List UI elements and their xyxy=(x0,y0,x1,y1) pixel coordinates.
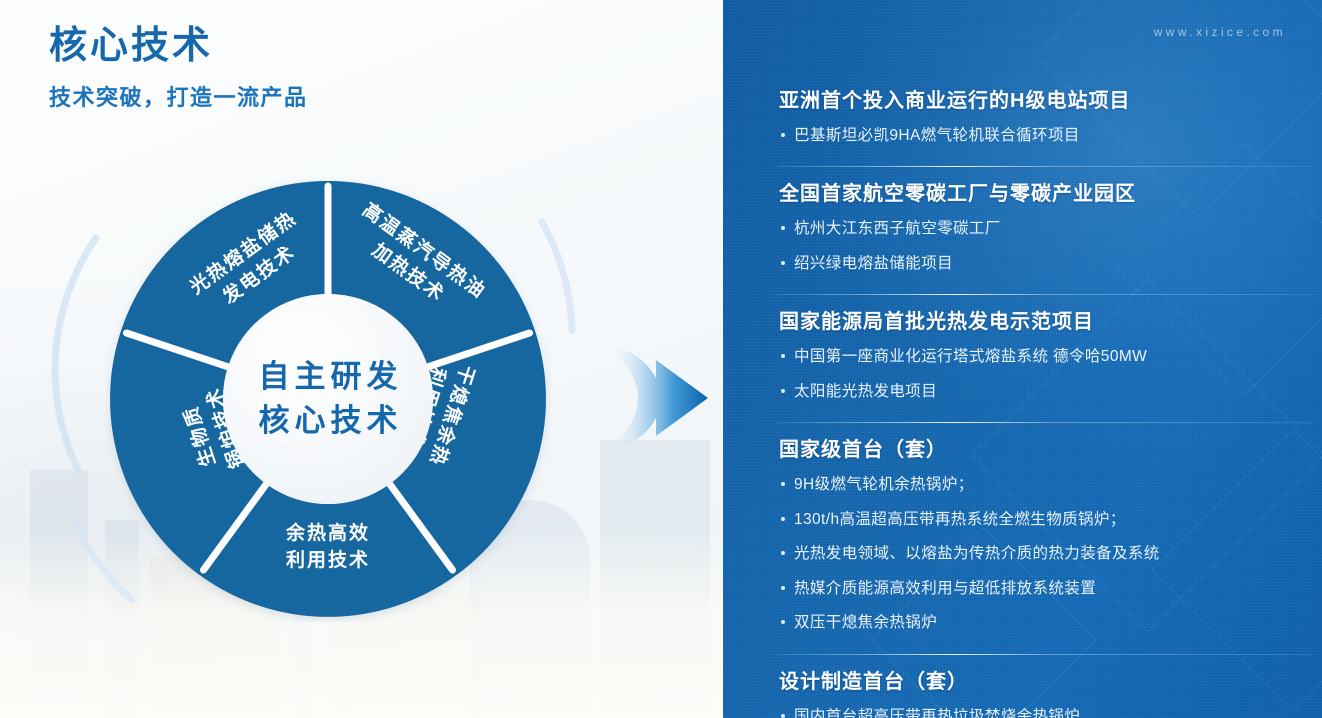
segment-label-line2: 利用技术 xyxy=(253,548,403,575)
section-divider xyxy=(777,422,1313,423)
section-item: 9H级燃气轮机余热锅炉； xyxy=(779,468,1299,502)
section-design-manufacture-first-set: 设计制造首台（套） 国内首台超高压带再热垃圾焚烧余热锅炉 xyxy=(779,669,1299,718)
page-subtitle: 技术突破，打造一流产品 xyxy=(49,80,308,112)
core-technology-donut: 光热熔盐储热 发电技术 高温蒸汽导热油 加热技术 干熄焦余热 利用技术 余热高效… xyxy=(105,176,551,622)
right-arrow-icon xyxy=(604,336,714,460)
section-divider xyxy=(777,654,1313,655)
segment-label-line1: 余热高效 xyxy=(253,521,403,548)
segment-label-bottom: 余热高效 利用技术 xyxy=(253,521,403,575)
hub-line-2: 核心技术 xyxy=(254,399,403,443)
section-solar-thermal-demo: 国家能源局首批光热发电示范项目 中国第一座商业化运行塔式熔盐系统 德令哈50MW… xyxy=(779,309,1299,409)
section-item: 国内首台超高压带再热垃圾焚烧余热锅炉 xyxy=(779,700,1299,718)
right-panel: www.xizice.com 亚洲首个投入商业运行的H级电站项目 巴基斯坦必凯9… xyxy=(723,0,1322,718)
section-item: 光热发电领域、以熔盐为传热介质的热力装备及系统 xyxy=(779,537,1299,571)
section-divider xyxy=(777,166,1313,167)
website-url[interactable]: www.xizice.com xyxy=(1154,25,1286,39)
section-item: 巴基斯坦必凯9HA燃气轮机联合循环项目 xyxy=(779,119,1299,153)
section-title: 设计制造首台（套） xyxy=(779,669,1299,695)
section-item: 杭州大江东西子航空零碳工厂 xyxy=(779,212,1299,246)
title-block: 核心技术 技术突破，打造一流产品 xyxy=(49,25,308,112)
section-divider xyxy=(777,294,1313,295)
section-national-first-set: 国家级首台（套） 9H级燃气轮机余热锅炉； 130t/h高温超高压带再热系统全燃… xyxy=(779,437,1299,640)
section-asia-h-class: 亚洲首个投入商业运行的H级电站项目 巴基斯坦必凯9HA燃气轮机联合循环项目 xyxy=(779,88,1299,153)
section-title: 国家能源局首批光热发电示范项目 xyxy=(779,309,1299,335)
section-item: 130t/h高温超高压带再热系统全燃生物质锅炉； xyxy=(779,503,1299,537)
donut-center-hub: 自主研发 核心技术 xyxy=(223,294,433,504)
project-sections: 亚洲首个投入商业运行的H级电站项目 巴基斯坦必凯9HA燃气轮机联合循环项目 全国… xyxy=(779,88,1299,718)
page-title: 核心技术 xyxy=(49,25,308,69)
slide-canvas: 核心技术 技术突破，打造一流产品 xyxy=(0,0,1322,718)
section-item: 热媒介质能源高效利用与超低排放系统装置 xyxy=(779,572,1299,606)
hub-line-1: 自主研发 xyxy=(254,355,403,399)
section-item: 绍兴绿电熔盐储能项目 xyxy=(779,247,1299,281)
section-item: 双压干熄焦余热锅炉 xyxy=(779,606,1299,640)
section-item: 中国第一座商业化运行塔式熔盐系统 德令哈50MW xyxy=(779,340,1299,374)
section-zero-carbon: 全国首家航空零碳工厂与零碳产业园区 杭州大江东西子航空零碳工厂 绍兴绿电熔盐储能… xyxy=(779,181,1299,281)
section-title: 亚洲首个投入商业运行的H级电站项目 xyxy=(779,88,1299,114)
section-title: 全国首家航空零碳工厂与零碳产业园区 xyxy=(779,181,1299,207)
section-title: 国家级首台（套） xyxy=(779,437,1299,463)
section-item: 太阳能光热发电项目 xyxy=(779,375,1299,409)
left-panel: 核心技术 技术突破，打造一流产品 xyxy=(0,0,723,718)
